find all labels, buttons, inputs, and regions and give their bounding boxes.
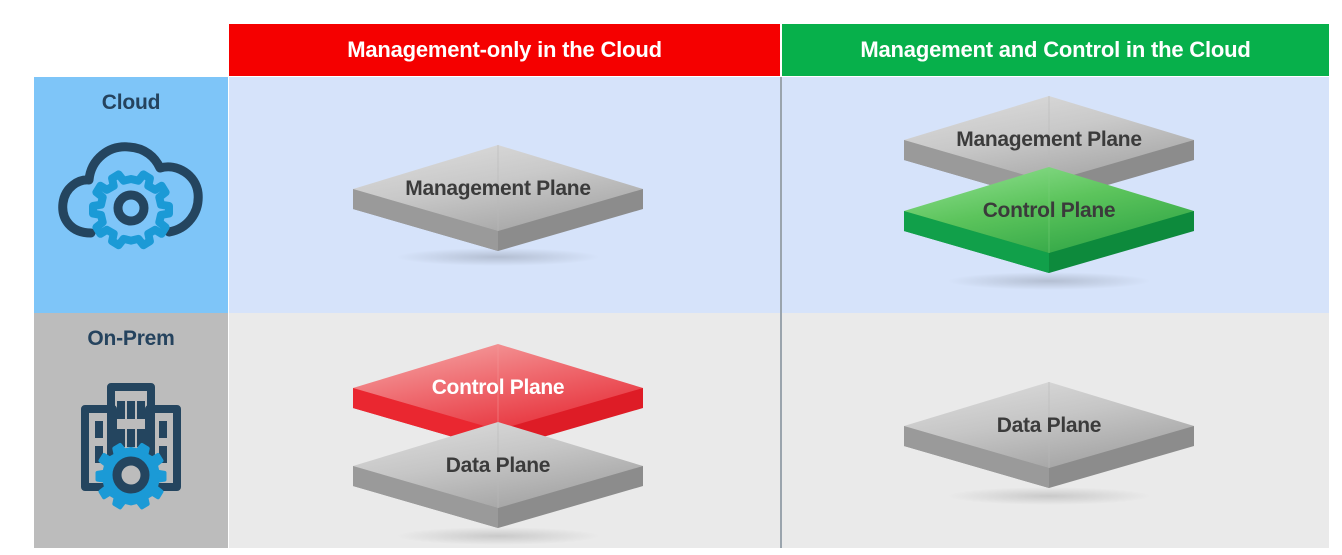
plane-slab-management-plane: Management Plane bbox=[353, 139, 643, 265]
row-label-on-prem-text: On-Prem bbox=[87, 327, 174, 351]
cloud-gear-icon bbox=[51, 125, 211, 265]
cell-on-prem-management-and-control: Data Plane bbox=[782, 313, 1329, 548]
column-header-label: Management-only in the Cloud bbox=[347, 37, 662, 63]
column-header-management-only: Management-only in the Cloud bbox=[229, 24, 780, 76]
plane-slab-control-plane: Control Plane bbox=[904, 161, 1194, 287]
column-divider bbox=[780, 77, 782, 548]
column-header-label: Management and Control in the Cloud bbox=[860, 37, 1250, 63]
plane-placement-diagram: Management-only in the Cloud Management … bbox=[0, 0, 1342, 555]
building-gear-icon bbox=[51, 361, 211, 511]
plane-slab-data-plane: Data Plane bbox=[353, 416, 643, 542]
cell-cloud-management-only: Management Plane bbox=[229, 77, 780, 313]
row-label-cloud-text: Cloud bbox=[102, 91, 160, 115]
plane-slab-data-plane: Data Plane bbox=[904, 376, 1194, 502]
column-header-management-and-control: Management and Control in the Cloud bbox=[782, 24, 1329, 76]
row-label-cloud: Cloud bbox=[34, 77, 228, 313]
row-label-on-prem: On-Prem bbox=[34, 313, 228, 548]
cell-on-prem-management-only: Control Plane bbox=[229, 313, 780, 548]
cell-cloud-management-and-control: Management Plane bbox=[782, 77, 1329, 313]
